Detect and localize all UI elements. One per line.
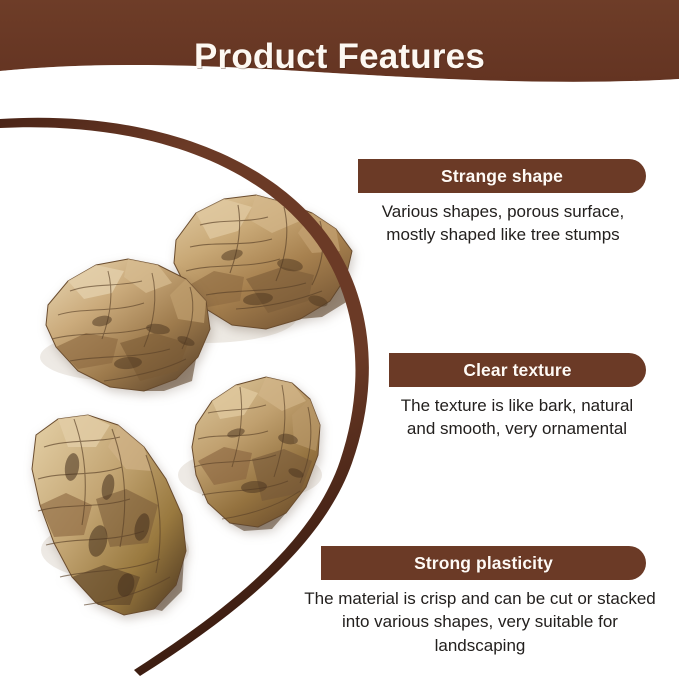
feature-strong-plasticity: Strong plasticity The material is crisp … [321, 546, 647, 657]
feature-title-pill-clear-texture[interactable]: Clear texture [389, 353, 646, 387]
feature-strange-shape: Strange shape Various shapes, porous sur… [358, 159, 648, 247]
feature-body-clear-texture: The texture is like bark, natural and sm… [377, 394, 657, 441]
feature-title-pill-strange-shape[interactable]: Strange shape [358, 159, 646, 193]
feature-title-clear-texture: Clear texture [453, 360, 581, 381]
feature-clear-texture: Clear texture The texture is like bark, … [389, 353, 647, 441]
page-title: Product Features [0, 37, 679, 77]
feature-title-strange-shape: Strange shape [431, 166, 573, 187]
feature-body-strong-plasticity: The material is crisp and can be cut or … [301, 587, 659, 657]
product-features-infographic: Product Features [0, 0, 679, 679]
feature-body-strange-shape: Various shapes, porous surface, mostly s… [358, 200, 648, 247]
feature-title-pill-strong-plasticity[interactable]: Strong plasticity [321, 546, 646, 580]
feature-title-strong-plasticity: Strong plasticity [404, 553, 563, 574]
